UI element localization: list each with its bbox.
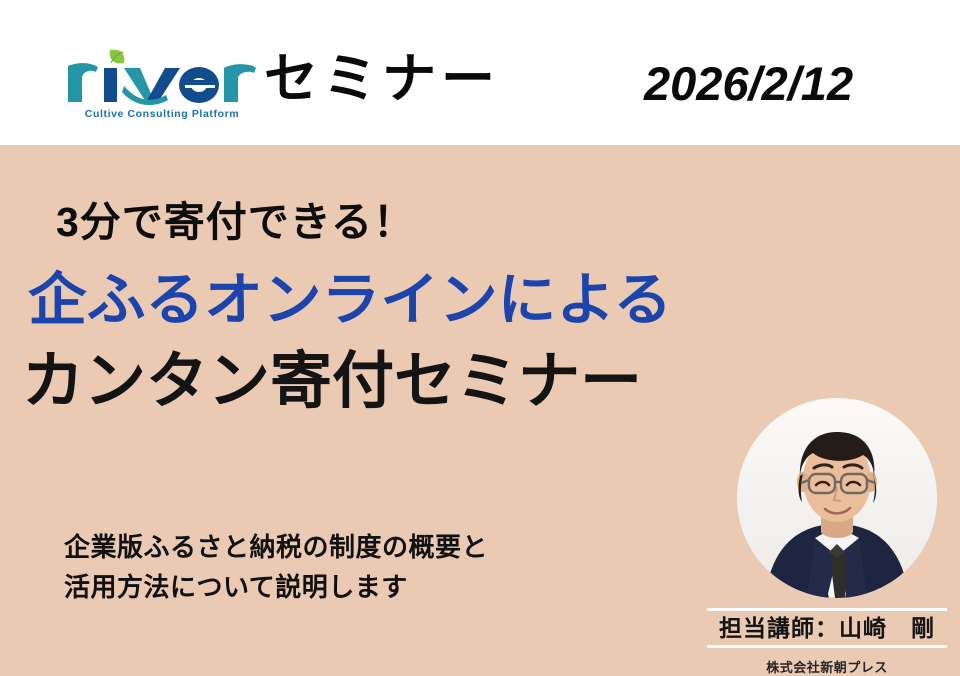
speaker-company: 株式会社新朝プレス: [707, 657, 947, 676]
lead-line-1: 企業版ふるさと納税の制度の概要と: [64, 528, 488, 568]
river-logo: Cultive Consulting Platform: [62, 46, 262, 132]
header-seminar-label: セミナー: [264, 52, 500, 106]
river-wordmark-icon: [62, 46, 262, 108]
header-date: 2026/2/12: [644, 60, 853, 107]
kicker-text: 3分で寄付できる！: [56, 202, 415, 243]
poster-body: 3分で寄付できる！ 企ふるオンラインによる カンタン寄付セミナー 企業版ふるさと…: [0, 145, 960, 640]
speaker-credit: 担当講師：山崎 剛 株式会社新朝プレス: [707, 608, 947, 676]
speaker-portrait: [737, 398, 937, 598]
seminar-poster: Cultive Consulting Platform セミナー 2026/2/…: [0, 0, 960, 640]
lead-description: 企業版ふるさと納税の制度の概要と 活用方法について説明します: [64, 528, 488, 607]
title-line-1: 企ふるオンラインによる: [28, 272, 672, 329]
poster-header: Cultive Consulting Platform セミナー 2026/2/…: [0, 0, 960, 145]
speaker-portrait-illustration: [737, 398, 937, 598]
title-line-2: カンタン寄付セミナー: [22, 351, 642, 413]
lead-line-2: 活用方法について説明します: [64, 568, 488, 608]
logo-tagline: Cultive Consulting Platform: [62, 108, 262, 120]
speaker-rule-bottom: [707, 645, 947, 648]
